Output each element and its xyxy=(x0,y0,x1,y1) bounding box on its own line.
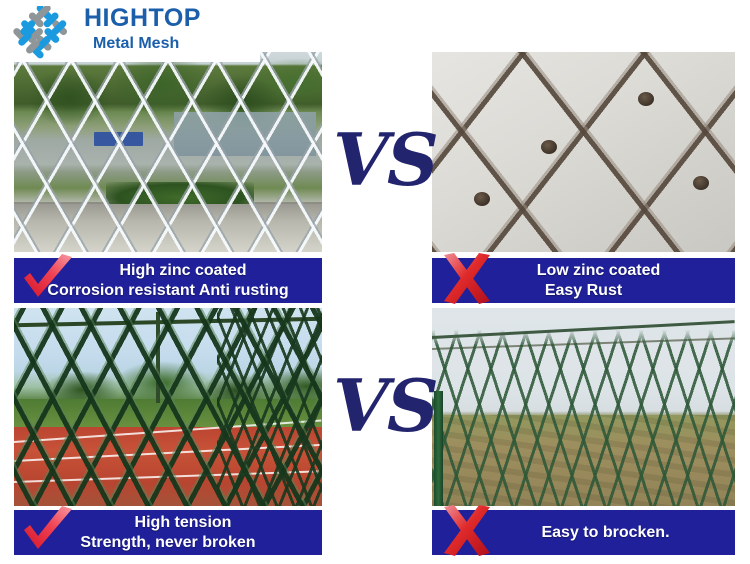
caption-bar-high-tension: High tension Strength, never broken xyxy=(14,510,322,555)
caption-bar-easy-broken: Easy to brocken. xyxy=(432,510,735,555)
brand-tagline: Metal Mesh xyxy=(93,34,254,54)
caption-line-1: Easy to brocken. xyxy=(432,523,735,543)
caption-line-1: Low zinc coated xyxy=(432,261,735,281)
caption-line-2: Strength, never broken xyxy=(14,533,322,553)
green-pvc-fence-running-track-photo xyxy=(14,308,322,506)
caption-line-1: High tension xyxy=(14,513,322,533)
caption-text: Easy to brocken. xyxy=(432,523,735,543)
brand-name: HIGHTOP xyxy=(84,5,254,32)
woven-mesh-diamond-icon xyxy=(12,6,74,60)
caption-bar-high-zinc: High zinc coated Corrosion resistant Ant… xyxy=(14,258,322,303)
sagging-green-fence-photo xyxy=(432,308,735,506)
vs-label-bottom: VS xyxy=(333,370,437,442)
caption-text: High tension Strength, never broken xyxy=(14,513,322,553)
brand-wordmark: HIGHTOP Metal Mesh xyxy=(84,5,254,61)
brand-logo-block: HIGHTOP Metal Mesh xyxy=(0,0,260,62)
caption-bar-low-zinc: Low zinc coated Easy Rust xyxy=(432,258,735,303)
caption-line-1: High zinc coated xyxy=(14,261,322,281)
caption-line-2: Easy Rust xyxy=(432,281,735,301)
caption-text: High zinc coated Corrosion resistant Ant… xyxy=(14,261,322,301)
caption-text: Low zinc coated Easy Rust xyxy=(432,261,735,301)
dark-wire-mesh-overlay xyxy=(432,52,735,252)
galvanized-mesh-overlay xyxy=(14,52,322,252)
sagging-mesh-overlay xyxy=(432,308,735,506)
rusty-dark-wire-mesh-photo xyxy=(432,52,735,252)
galvanized-chain-link-fence-photo xyxy=(14,52,322,252)
vs-label-top: VS xyxy=(333,124,437,196)
green-mesh-far-overlay xyxy=(217,308,322,506)
caption-line-2: Corrosion resistant Anti rusting xyxy=(14,281,322,301)
